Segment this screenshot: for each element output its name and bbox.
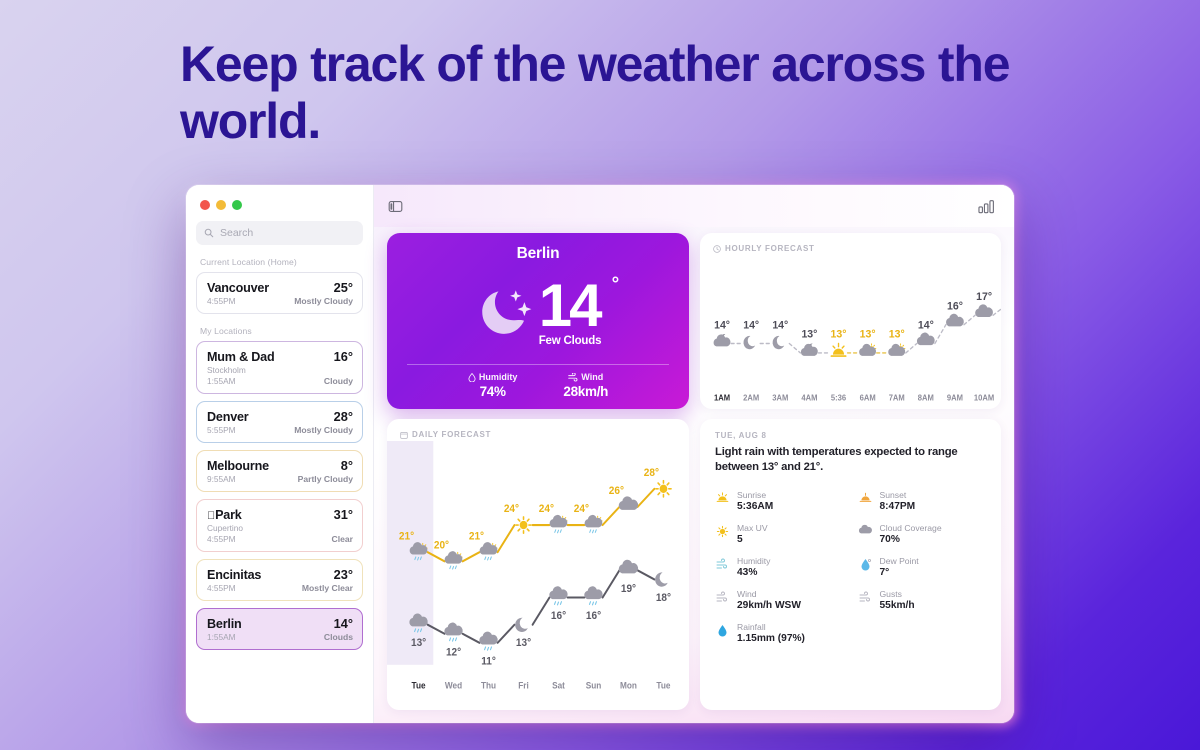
current-weather-card[interactable]: Berlin 14° Few Clouds [387, 233, 689, 409]
location-sections: Current Location (Home)Vancouver25°4:55P… [196, 257, 363, 650]
sun-icon [516, 517, 531, 533]
top-row: Berlin 14° Few Clouds [387, 233, 1001, 409]
hourly-temp-label: 14° [772, 319, 788, 331]
cloud-icon [858, 524, 871, 533]
detail-item-wind: Wind29km/h WSW [715, 589, 844, 611]
hourly-temp-label: 13° [831, 328, 847, 340]
sidebar: Search Current Location (Home)Vancouver2… [186, 185, 374, 723]
hourly-time-label: 1AM [714, 393, 730, 402]
location-temperature: 23° [334, 567, 353, 582]
location-card-encinitas[interactable]: Encinitas23°4:55PMMostly Clear [196, 559, 363, 601]
location-card-top: Park31° [207, 507, 353, 522]
hero-stat-wind-value: 28km/h [563, 384, 608, 399]
location-card-mum-dad[interactable]: Mum & Dad16°Stockholm1:55AMCloudy [196, 341, 363, 394]
location-time: 9:55AM [207, 474, 236, 484]
location-time: 4:55PM [207, 296, 236, 306]
wind-icon [568, 373, 578, 382]
hourly-temp-label: 14° [714, 319, 730, 331]
location-card-top: Denver28° [207, 409, 353, 424]
detail-item-label: Wind [737, 589, 801, 599]
location-name: Vancouver [207, 281, 269, 295]
sunset-icon [860, 493, 871, 501]
daily-day-label: Tue [656, 680, 670, 690]
location-temperature: 31° [334, 507, 353, 522]
minimize-button[interactable] [216, 200, 226, 210]
raindrop-icon [715, 623, 730, 638]
hero-degree-symbol: ° [612, 276, 617, 293]
hero-temperature: 14° [539, 278, 602, 333]
daily-low-label: 12° [446, 647, 461, 658]
detail-item-gusts: Gusts55km/h [858, 589, 987, 611]
detail-item-label: Dew Point [880, 556, 919, 566]
daily-line-low [533, 598, 550, 625]
location-card-melbourne[interactable]: Melbourne8°9:55AMPartly Cloudy [196, 450, 363, 492]
daily-line-high [463, 552, 480, 561]
location-card-bottom: 1:55AMClouds [207, 632, 353, 642]
hourly-time-label: 5:36 [831, 393, 847, 402]
location-temperature: 16° [334, 349, 353, 364]
daily-high-label: 20° [434, 540, 449, 551]
sun-rain-icon [480, 542, 498, 560]
bottom-row: DAILY FORECAST 21°20°21°24°24°24°26°28°1… [387, 419, 1001, 710]
hourly-temp-label: 14° [743, 319, 759, 331]
location-card-top: Melbourne8° [207, 458, 353, 473]
detail-item-value: 55km/h [880, 600, 915, 611]
sunrise-icon [831, 344, 845, 357]
hourly-time-label: 2AM [743, 393, 759, 402]
cloud-icon [975, 304, 993, 317]
cloud-rain-icon [549, 586, 567, 605]
moon-icon [515, 618, 528, 632]
cloud-icon [858, 524, 873, 539]
daily-day-label: Tue [412, 680, 426, 690]
daily-line-high [603, 507, 620, 525]
location-time: 1:55AM [207, 376, 236, 386]
calendar-icon [400, 431, 408, 439]
detail-item-value: 70% [880, 534, 942, 545]
hourly-forecast-panel[interactable]: HOURLY FORECAST 14°1AM14°2AM14°3AM13°4AM… [700, 233, 1001, 409]
location-region: Stockholm [207, 365, 353, 375]
detail-stats-grid: Sunrise5:36AMSunset8:47PMMax UV5Cloud Co… [715, 490, 986, 644]
daily-day-label: Thu [481, 680, 496, 690]
location-card-bottom: 4:55PMMostly Cloudy [207, 296, 353, 306]
location-card-denver[interactable]: Denver28°5:55PMMostly Cloudy [196, 401, 363, 443]
location-card-bottom: 1:55AMCloudy [207, 376, 353, 386]
hero-temp-value: 14 [539, 272, 600, 339]
hourly-connector [789, 343, 800, 352]
sidebar-toggle-icon[interactable] [388, 199, 403, 214]
detail-item-humidity: Humidity43% [715, 556, 844, 578]
hourly-connector [906, 343, 917, 352]
hero-stat-wind-label: Wind [581, 372, 603, 382]
location-condition: Clouds [324, 632, 353, 642]
hourly-panel-title: HOURLY FORECAST [725, 244, 815, 253]
hero-divider [407, 364, 669, 365]
hero-city: Berlin [403, 245, 673, 263]
location-condition: Partly Cloudy [298, 474, 353, 484]
page-headline: Keep track of the weather across the wor… [180, 36, 1080, 150]
detail-item-value: 8:47PM [880, 501, 916, 512]
detail-item-text: Sunset8:47PM [880, 490, 916, 512]
apple-logo-icon:  [207, 510, 215, 522]
cloud-rain-icon [584, 586, 602, 605]
hourly-time-label: 10AM [974, 393, 995, 402]
hero-stat-humidity: Humidity 74% [468, 372, 518, 399]
location-time: 1:55AM [207, 632, 236, 642]
hero-stat-humidity-value: 74% [468, 384, 518, 399]
sunrise-icon [717, 492, 728, 501]
daily-day-label: Fri [518, 680, 529, 690]
detail-item-value: 1.15mm (97%) [737, 633, 805, 644]
hero-stats: Humidity 74% Wind 28km/h [403, 372, 673, 399]
cloud-icon [619, 560, 638, 574]
daily-low-label: 13° [411, 638, 426, 649]
detail-item-text: Cloud Coverage70% [880, 523, 942, 545]
sun-cloud-icon [859, 344, 876, 356]
daily-day-label: Sun [586, 680, 602, 690]
detail-item-max-uv: Max UV5 [715, 523, 844, 545]
cloud-icon [917, 333, 935, 346]
detail-item-text: Sunrise5:36AM [737, 490, 773, 512]
day-detail-panel[interactable]: TUE, AUG 8 Light rain with temperatures … [700, 419, 1001, 710]
location-name: Mum & Dad [207, 350, 274, 364]
detail-item-cloud-coverage: Cloud Coverage70% [858, 523, 987, 545]
location-condition: Mostly Clear [302, 583, 353, 593]
location-card-top: Berlin14° [207, 616, 353, 631]
hero-stat-wind-label-row: Wind [563, 372, 608, 382]
hourly-temp-label: 13° [860, 328, 876, 340]
daily-panel-title-row: DAILY FORECAST [387, 430, 689, 439]
detail-item-text: Max UV5 [737, 523, 768, 545]
location-list: Vancouver25°4:55PMMostly Cloudy [196, 272, 363, 314]
hourly-connector-clipped [993, 304, 1001, 315]
daily-high-label: 26° [609, 486, 624, 497]
location-time: 5:55PM [207, 425, 236, 435]
detail-item-rainfall: Rainfall1.15mm (97%) [715, 622, 844, 644]
cloud-rain-icon [444, 623, 462, 642]
sun-rain-icon [585, 515, 603, 533]
humidity-drop-icon [468, 373, 476, 382]
location-list: Mum & Dad16°Stockholm1:55AMCloudyDenver2… [196, 341, 363, 650]
hero-stat-humidity-label: Humidity [479, 372, 518, 382]
location-card-bottom: 4:55PMClear [207, 534, 353, 544]
hourly-time-label: 4AM [801, 393, 817, 402]
detail-item-sunrise: Sunrise5:36AM [715, 490, 844, 512]
hourly-temp-label: 16° [947, 300, 963, 312]
location-name: Encinitas [207, 568, 261, 582]
location-name: Berlin [207, 617, 242, 631]
detail-item-value: 7° [880, 567, 919, 578]
moon-icon [655, 572, 668, 586]
location-time: 4:55PM [207, 583, 236, 593]
traffic-lights[interactable] [196, 195, 363, 221]
location-condition: Clear [332, 534, 354, 544]
search-placeholder: Search [220, 227, 253, 239]
detail-item-label: Humidity [737, 556, 770, 566]
cloud-moon-icon [714, 334, 731, 346]
location-temperature: 8° [341, 458, 353, 473]
location-condition: Mostly Cloudy [294, 296, 353, 306]
section-label: Current Location (Home) [200, 257, 363, 267]
location-temperature: 14° [334, 616, 353, 631]
location-time: 4:55PM [207, 534, 236, 544]
location-name: Park [207, 508, 242, 522]
daily-high-label: 28° [644, 468, 659, 479]
daily-line-low [603, 570, 620, 597]
app-window: Search Current Location (Home)Vancouver2… [186, 185, 1014, 723]
search-input[interactable]: Search [196, 221, 363, 245]
hourly-chart: 14°1AM14°2AM14°3AM13°4AM13°5:3613°6AM13°… [700, 257, 1001, 409]
daily-line-low [638, 570, 655, 579]
detail-item-label: Sunrise [737, 490, 773, 500]
daily-day-label: Mon [620, 680, 637, 690]
main-pane: Berlin 14° Few Clouds [374, 185, 1014, 723]
daily-low-label: 16° [551, 611, 566, 622]
daily-high-label: 24° [504, 504, 519, 515]
clock-icon [713, 245, 721, 253]
sun-rain-icon [550, 515, 568, 533]
daily-line-high [638, 489, 655, 507]
cloud-rain-icon [479, 632, 497, 651]
gust-icon [858, 590, 873, 605]
hourly-panel-title-row: HOURLY FORECAST [713, 244, 988, 253]
hero-main: 14° Few Clouds [403, 263, 673, 362]
detail-item-value: 43% [737, 567, 770, 578]
detail-item-text: Gusts55km/h [880, 589, 915, 611]
detail-item-label: Sunset [880, 490, 916, 500]
daily-chart: 21°20°21°24°24°24°26°28°13°12°11°13°16°1… [387, 441, 689, 710]
daily-panel-title: DAILY FORECAST [412, 430, 491, 439]
cloud-icon [619, 496, 638, 510]
sun-icon [715, 524, 730, 539]
sun-icon [656, 481, 671, 497]
daily-high-label: 21° [469, 531, 484, 542]
content-area: Berlin 14° Few Clouds [374, 227, 1014, 723]
location-card-bottom: 4:55PMMostly Clear [207, 583, 353, 593]
hourly-time-label: 8AM [918, 393, 934, 402]
detail-item-text: Rainfall1.15mm (97%) [737, 622, 805, 644]
location-name: Melbourne [207, 459, 269, 473]
daily-line-low [498, 625, 515, 643]
bar-chart-icon[interactable] [978, 199, 996, 214]
detail-item-value: 5 [737, 534, 768, 545]
detail-item-value: 29km/h WSW [737, 600, 801, 611]
daily-high-label: 24° [539, 504, 554, 515]
hero-stat-wind: Wind 28km/h [563, 372, 608, 399]
daily-high-label: 21° [399, 531, 414, 542]
moon-stars-icon [475, 284, 533, 342]
sun-rain-icon [445, 551, 463, 569]
location-condition: Cloudy [324, 376, 353, 386]
sunset-icon [858, 491, 873, 506]
cloud-icon [946, 314, 964, 327]
detail-item-text: Wind29km/h WSW [737, 589, 801, 611]
detail-item-label: Cloud Coverage [880, 523, 942, 533]
hourly-time-label: 9AM [947, 393, 963, 402]
moon-icon [743, 336, 755, 349]
hourly-time-label: 7AM [889, 393, 905, 402]
location-card-bottom: 9:55AMPartly Cloudy [207, 474, 353, 484]
zoom-button[interactable] [232, 200, 242, 210]
daily-line-low [463, 634, 480, 643]
daily-low-label: 18° [656, 593, 671, 604]
detail-item-label: Max UV [737, 523, 768, 533]
location-card-vancouver[interactable]: Vancouver25°4:55PMMostly Cloudy [196, 272, 363, 314]
location-temperature: 25° [334, 280, 353, 295]
wind-icon [715, 590, 730, 605]
moon-icon [773, 336, 785, 349]
detail-item-label: Gusts [880, 589, 915, 599]
detail-summary: Light rain with temperatures expected to… [715, 445, 986, 476]
sun-cloud-icon [888, 344, 905, 356]
hourly-temp-label: 13° [889, 328, 905, 340]
daily-day-label: Sat [552, 680, 565, 690]
hourly-connector [964, 315, 975, 324]
daily-forecast-panel[interactable]: DAILY FORECAST 21°20°21°24°24°24°26°28°1… [387, 419, 689, 710]
location-card-berlin[interactable]: Berlin14°1:55AMClouds [196, 608, 363, 650]
detail-item-value: 5:36AM [737, 501, 773, 512]
daily-low-label: 13° [516, 638, 531, 649]
location-condition: Mostly Cloudy [294, 425, 353, 435]
sun-icon [717, 526, 727, 536]
location-name: Denver [207, 410, 249, 424]
location-card-bottom: 5:55PMMostly Cloudy [207, 425, 353, 435]
location-region: Cupertino [207, 523, 353, 533]
detail-item-text: Dew Point7° [880, 556, 919, 578]
daily-line-high [498, 525, 515, 552]
location-card-park[interactable]: Park31°Cupertino4:55PMClear [196, 499, 363, 552]
detail-item-sunset: Sunset8:47PM [858, 490, 987, 512]
location-card-top: Encinitas23° [207, 567, 353, 582]
detail-date: TUE, AUG 8 [715, 431, 986, 440]
toolbar [374, 185, 1014, 227]
location-card-top: Vancouver25° [207, 280, 353, 295]
hero-stat-humidity-label-row: Humidity [468, 372, 518, 382]
detail-item-dew-point: Dew Point7° [858, 556, 987, 578]
detail-item-text: Humidity43% [737, 556, 770, 578]
daily-low-label: 16° [586, 611, 601, 622]
hourly-time-label: 3AM [772, 393, 788, 402]
daily-low-label: 19° [621, 584, 636, 595]
close-button[interactable] [200, 200, 210, 210]
section-label: My Locations [200, 326, 363, 336]
hourly-temp-label: 17° [976, 291, 992, 303]
search-icon [204, 228, 214, 238]
dew-drop-icon [858, 557, 873, 572]
hourly-time-label: 6AM [860, 393, 876, 402]
location-temperature: 28° [334, 409, 353, 424]
hourly-temp-label: 13° [801, 328, 817, 340]
location-card-top: Mum & Dad16° [207, 349, 353, 364]
daily-day-label: Wed [445, 680, 462, 690]
humidity-icon [715, 557, 730, 572]
daily-low-label: 11° [481, 656, 496, 667]
hero-temp-block: 14° Few Clouds [539, 278, 602, 347]
sunrise-icon [715, 491, 730, 506]
hourly-connector [935, 325, 946, 344]
cloud-moon-icon [801, 343, 818, 355]
daily-high-label: 24° [574, 504, 589, 515]
detail-item-label: Rainfall [737, 622, 805, 632]
hourly-temp-label: 14° [918, 319, 934, 331]
